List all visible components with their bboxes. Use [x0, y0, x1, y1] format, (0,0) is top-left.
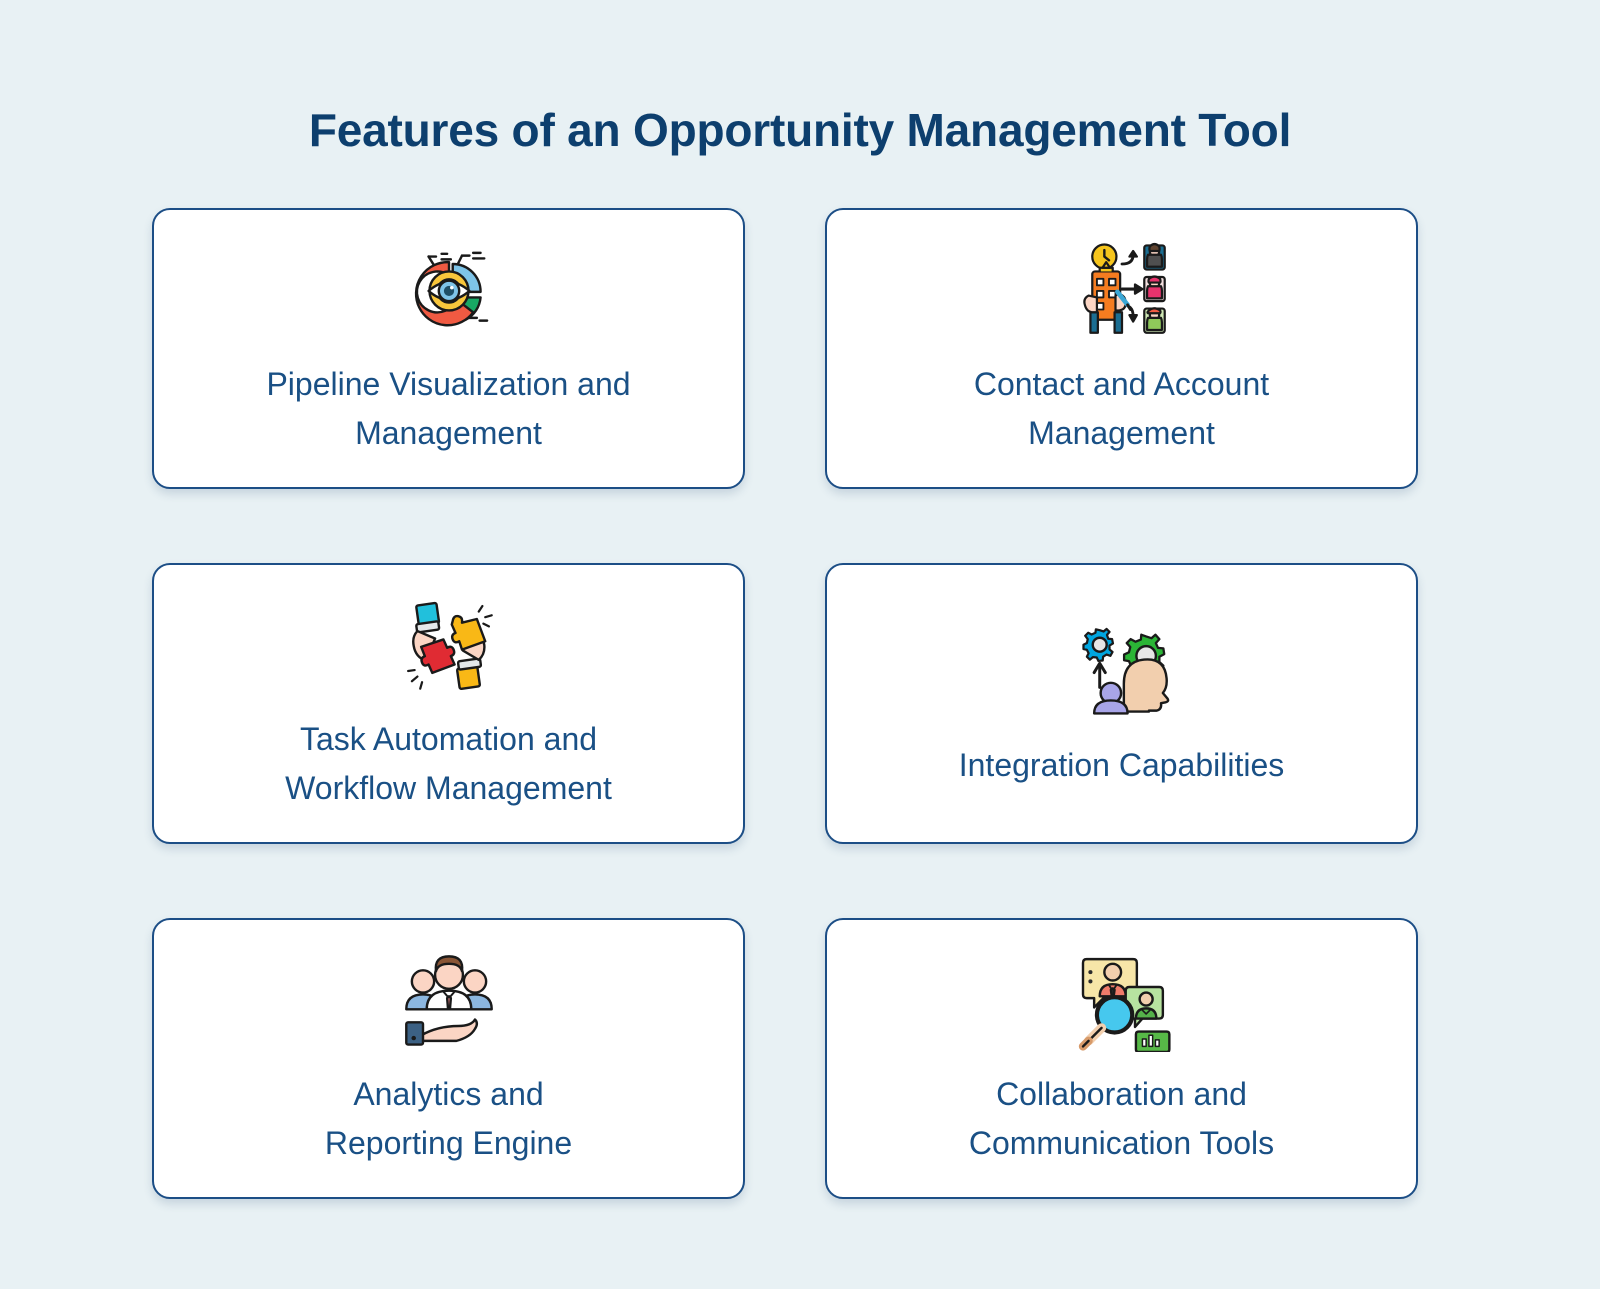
- feature-card-label: Integration Capabilities: [959, 741, 1285, 790]
- head-gears-icon: [1062, 611, 1182, 723]
- feature-card-integration-capabilities[interactable]: Integration Capabilities: [825, 563, 1418, 844]
- speech-bubbles-magnifier-icon: [1062, 944, 1182, 1056]
- feature-card-label: Pipeline Visualization and Management: [266, 360, 630, 457]
- feature-card-contact-account[interactable]: Contact and Account Management: [825, 208, 1418, 489]
- feature-card-collaboration-communication[interactable]: Collaboration and Communication Tools: [825, 918, 1418, 1199]
- clipboard-clock-contacts-icon: [1062, 234, 1182, 346]
- feature-card-analytics-reporting[interactable]: Analytics and Reporting Engine: [152, 918, 745, 1199]
- feature-card-label: Analytics and Reporting Engine: [325, 1070, 572, 1167]
- feature-card-label: Contact and Account Management: [974, 360, 1269, 457]
- feature-card-pipeline-visualization[interactable]: Pipeline Visualization and Management: [152, 208, 745, 489]
- hands-puzzle-pieces-icon: [389, 589, 509, 701]
- page-title: Features of an Opportunity Management To…: [0, 103, 1600, 158]
- page-root: Features of an Opportunity Management To…: [0, 0, 1600, 1289]
- feature-card-label: Task Automation and Workflow Management: [285, 715, 612, 812]
- feature-card-grid: Pipeline Visualization and Management: [152, 208, 1418, 1199]
- pie-chart-eye-icon: [389, 234, 509, 346]
- feature-card-label: Collaboration and Communication Tools: [969, 1070, 1274, 1167]
- team-on-hand-icon: [389, 944, 509, 1056]
- feature-card-task-automation[interactable]: Task Automation and Workflow Management: [152, 563, 745, 844]
